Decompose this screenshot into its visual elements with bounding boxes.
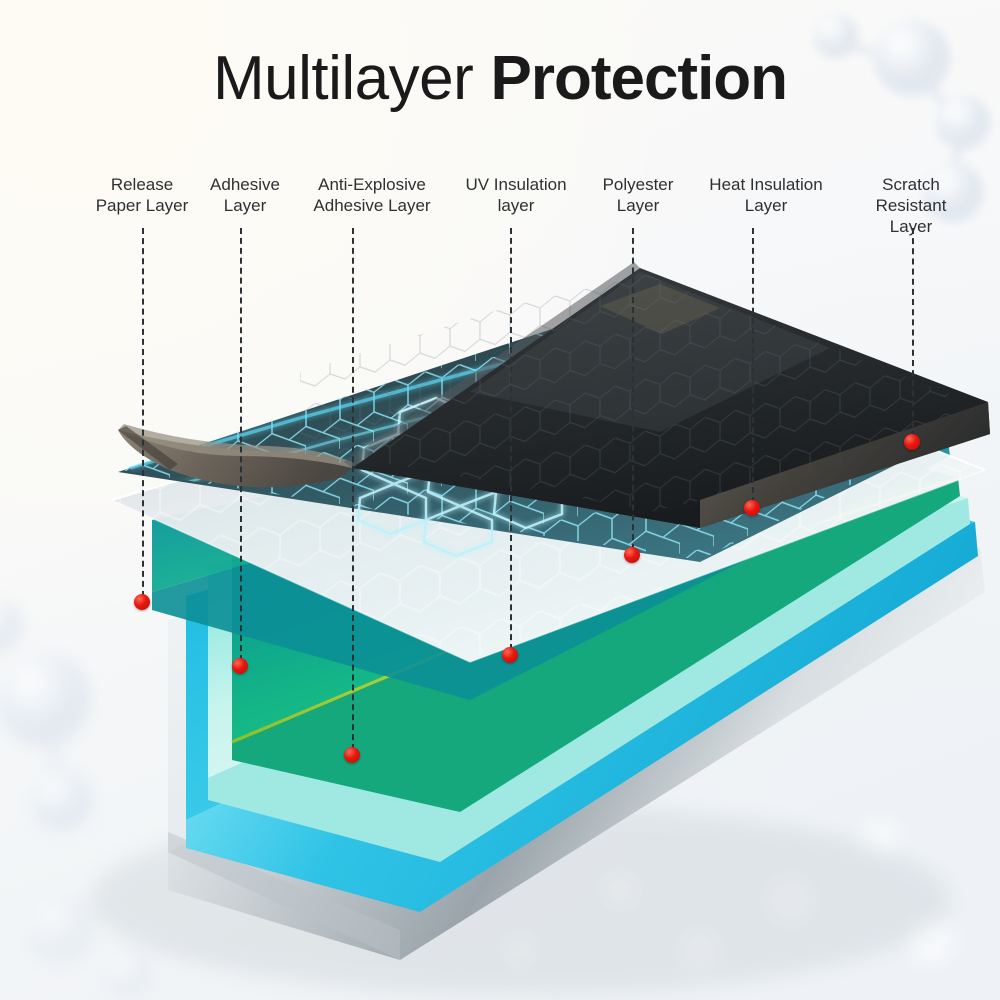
layer-label-scratch-resistant-layer: Scratch Resistant Layer — [867, 174, 956, 237]
leader-line-scratch-resistant-layer — [912, 228, 914, 437]
leader-line-adhesive-layer — [240, 228, 242, 661]
layer-label-uv-insulation-layer: UV Insulation layer — [465, 174, 566, 216]
leader-dot-polyester-layer — [624, 547, 640, 563]
layer-label-polyester-layer: Polyester Layer — [603, 174, 674, 216]
infographic-root: Multilayer Protection — [0, 0, 1000, 1000]
leader-line-heat-insulation-layer — [752, 228, 754, 503]
leader-line-polyester-layer — [632, 228, 634, 550]
layer-stack-illustration — [0, 0, 1000, 1000]
leader-line-uv-insulation-layer — [510, 228, 512, 650]
layer-label-adhesive-layer: Adhesive Layer — [210, 174, 280, 216]
layer-label-release-paper-layer: Release Paper Layer — [96, 174, 189, 216]
leader-dot-adhesive-layer — [232, 658, 248, 674]
layer-label-anti-explosive-adhesive-layer: Anti-Explosive Adhesive Layer — [313, 174, 430, 216]
leader-dot-scratch-resistant-layer — [904, 434, 920, 450]
leader-line-anti-explosive-adhesive-layer — [352, 228, 354, 750]
leader-dot-anti-explosive-adhesive-layer — [344, 747, 360, 763]
leader-dot-uv-insulation-layer — [502, 647, 518, 663]
leader-dot-heat-insulation-layer — [744, 500, 760, 516]
layer-label-heat-insulation-layer: Heat Insulation Layer — [709, 174, 822, 216]
leader-dot-release-paper-layer — [134, 594, 150, 610]
leader-line-release-paper-layer — [142, 228, 144, 597]
